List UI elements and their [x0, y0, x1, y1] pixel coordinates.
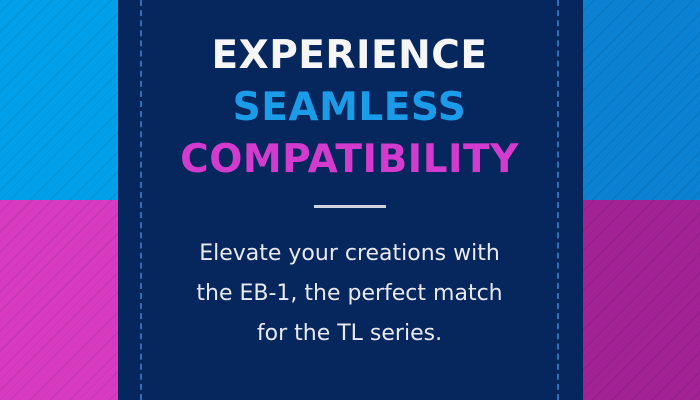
body-copy-line-2: the EB-1, the perfect match — [196, 274, 502, 314]
content-card: EXPERIENCE SEAMLESS COMPATIBILITY Elevat… — [118, 0, 583, 400]
headline-line-1: EXPERIENCE — [211, 36, 487, 75]
headline-line-3: COMPATIBILITY — [180, 140, 519, 179]
promo-banner: EXPERIENCE SEAMLESS COMPATIBILITY Elevat… — [0, 0, 700, 400]
left-panel-top-swatch — [0, 0, 118, 200]
dashed-border-right — [557, 0, 559, 400]
headline-divider — [314, 205, 386, 208]
right-panel-top-swatch — [583, 0, 700, 200]
headline-line-2: SEAMLESS — [233, 88, 467, 127]
body-copy-line-3: for the TL series. — [196, 314, 502, 354]
body-copy: Elevate your creations with the EB-1, th… — [196, 234, 502, 354]
body-copy-line-1: Elevate your creations with — [196, 234, 502, 274]
card-content: EXPERIENCE SEAMLESS COMPATIBILITY Elevat… — [142, 0, 557, 400]
right-decoration-panel — [583, 0, 700, 400]
left-decoration-panel — [0, 0, 118, 400]
right-panel-bottom-swatch — [583, 200, 700, 400]
left-panel-bottom-swatch — [0, 200, 118, 400]
